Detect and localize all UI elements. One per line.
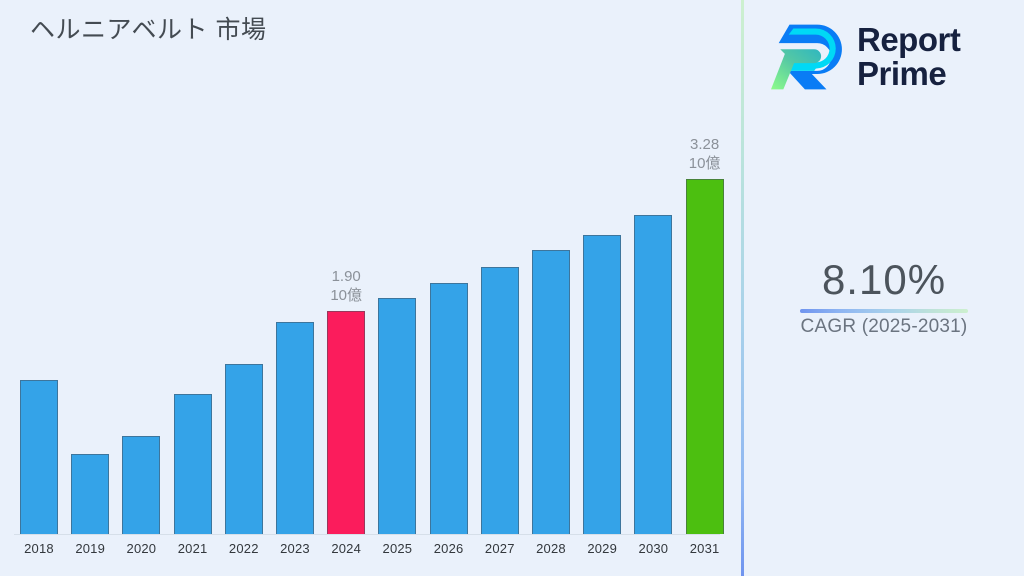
side-panel: Report Prime 8.10% CAGR (2025-2031) — [744, 0, 1024, 576]
x-tick-2023: 2023 — [276, 541, 314, 556]
bar-rect-2027 — [481, 267, 519, 534]
brand-logo: Report Prime — [769, 12, 1009, 102]
report-prime-logo-mark-icon — [769, 20, 847, 94]
x-tick-2021: 2021 — [174, 541, 212, 556]
x-tick-2030: 2030 — [634, 541, 672, 556]
x-tick-2025: 2025 — [378, 541, 416, 556]
bar-rect-2020 — [122, 436, 160, 534]
bar-2027 — [481, 0, 519, 534]
bar-rect-2029 — [583, 235, 621, 534]
bar-value-label-2031: 3.2810億 — [689, 135, 721, 173]
bar-unit-2024: 10億 — [330, 286, 362, 305]
x-tick-2027: 2027 — [481, 541, 519, 556]
brand-logo-text: Report Prime — [857, 23, 960, 90]
bar-rect-2023 — [276, 322, 314, 534]
bar-2030 — [634, 0, 672, 534]
cagr-value: 8.10% — [744, 255, 1024, 305]
bar-rect-2030 — [634, 215, 672, 534]
bar-2018 — [20, 0, 58, 534]
bar-rect-2025 — [378, 298, 416, 534]
x-tick-2022: 2022 — [225, 541, 263, 556]
brand-logo-line1: Report — [857, 23, 960, 57]
bar-value-2031: 3.28 — [689, 135, 721, 154]
x-tick-2019: 2019 — [71, 541, 109, 556]
x-tick-2018: 2018 — [20, 541, 58, 556]
bar-2031: 3.2810億 — [686, 0, 724, 534]
bar-value-label-2024: 1.9010億 — [330, 267, 362, 305]
x-tick-2028: 2028 — [532, 541, 570, 556]
bar-rect-2018 — [20, 380, 58, 534]
bar-rect-2031 — [686, 179, 724, 534]
bar-unit-2031: 10億 — [689, 154, 721, 173]
cagr-block: 8.10% CAGR (2025-2031) — [744, 255, 1024, 338]
x-tick-2029: 2029 — [583, 541, 621, 556]
bar-2026 — [430, 0, 468, 534]
x-axis-baseline — [14, 534, 720, 535]
bar-2029 — [583, 0, 621, 534]
bar-rect-2026 — [430, 283, 468, 534]
cagr-divider-rule — [800, 309, 968, 313]
chart-panel: ヘルニアベルト 市場 1.9010億3.2810億 20182019202020… — [0, 0, 742, 576]
x-tick-2026: 2026 — [430, 541, 468, 556]
bar-value-2024: 1.90 — [330, 267, 362, 286]
bar-rect-2019 — [71, 454, 109, 534]
bar-2021 — [174, 0, 212, 534]
bar-2019 — [71, 0, 109, 534]
bar-rect-2021 — [174, 394, 212, 534]
x-tick-2020: 2020 — [122, 541, 160, 556]
bar-2020 — [122, 0, 160, 534]
x-tick-2024: 2024 — [327, 541, 365, 556]
bar-rect-2028 — [532, 250, 570, 534]
brand-logo-line2: Prime — [857, 57, 960, 91]
bar-2025 — [378, 0, 416, 534]
bar-2028 — [532, 0, 570, 534]
x-tick-2031: 2031 — [686, 541, 724, 556]
bar-2023 — [276, 0, 314, 534]
cagr-caption: CAGR (2025-2031) — [744, 316, 1024, 338]
bar-rect-2022 — [225, 364, 263, 534]
infographic-root: ヘルニアベルト 市場 1.9010億3.2810億 20182019202020… — [0, 0, 1024, 576]
bar-rect-2024 — [327, 311, 365, 534]
bar-2024: 1.9010億 — [327, 0, 365, 534]
bar-2022 — [225, 0, 263, 534]
